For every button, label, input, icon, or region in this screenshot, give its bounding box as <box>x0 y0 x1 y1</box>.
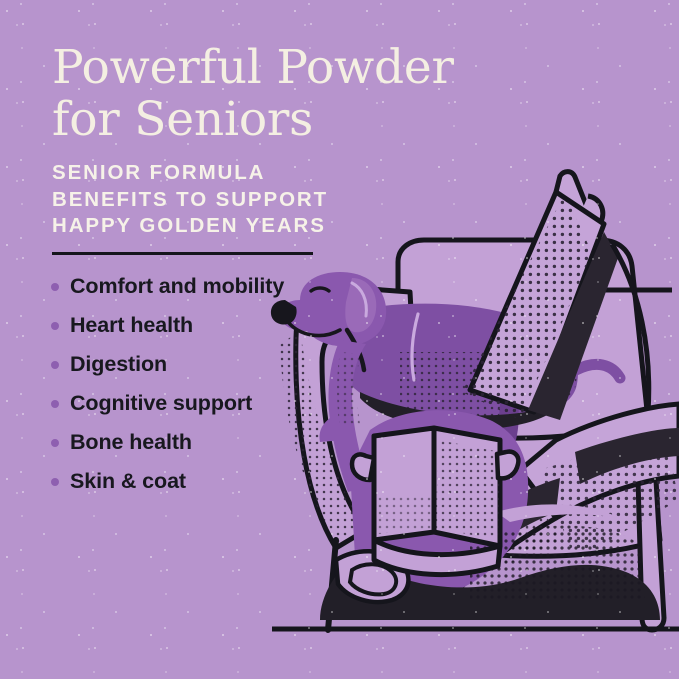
list-item: Cognitive support <box>48 393 348 415</box>
poster-canvas: Powerful Powder for Seniors SENIOR FORMU… <box>0 0 679 679</box>
list-item-label: Digestion <box>70 352 167 376</box>
list-item: Heart health <box>48 315 348 337</box>
list-item-label: Bone health <box>70 430 192 454</box>
subheading: SENIOR FORMULA BENEFITS TO SUPPORT HAPPY… <box>52 160 352 240</box>
bullet-dot-icon <box>51 361 59 369</box>
list-item-label: Heart health <box>70 313 193 337</box>
benefits-list: Comfort and mobility Heart health Digest… <box>48 276 348 510</box>
list-item: Skin & coat <box>48 471 348 493</box>
bullet-dot-icon <box>51 400 59 408</box>
list-item-label: Comfort and mobility <box>70 274 284 298</box>
list-item-label: Skin & coat <box>70 469 186 493</box>
list-item-label: Cognitive support <box>70 391 252 415</box>
bullet-dot-icon <box>51 322 59 330</box>
list-item: Comfort and mobility <box>48 276 348 298</box>
page-title: Powerful Powder for Seniors <box>52 42 522 145</box>
list-item: Bone health <box>48 432 348 454</box>
bullet-dot-icon <box>51 478 59 486</box>
bullet-dot-icon <box>51 439 59 447</box>
divider-rule <box>52 252 313 255</box>
bullet-dot-icon <box>51 283 59 291</box>
list-item: Digestion <box>48 354 348 376</box>
